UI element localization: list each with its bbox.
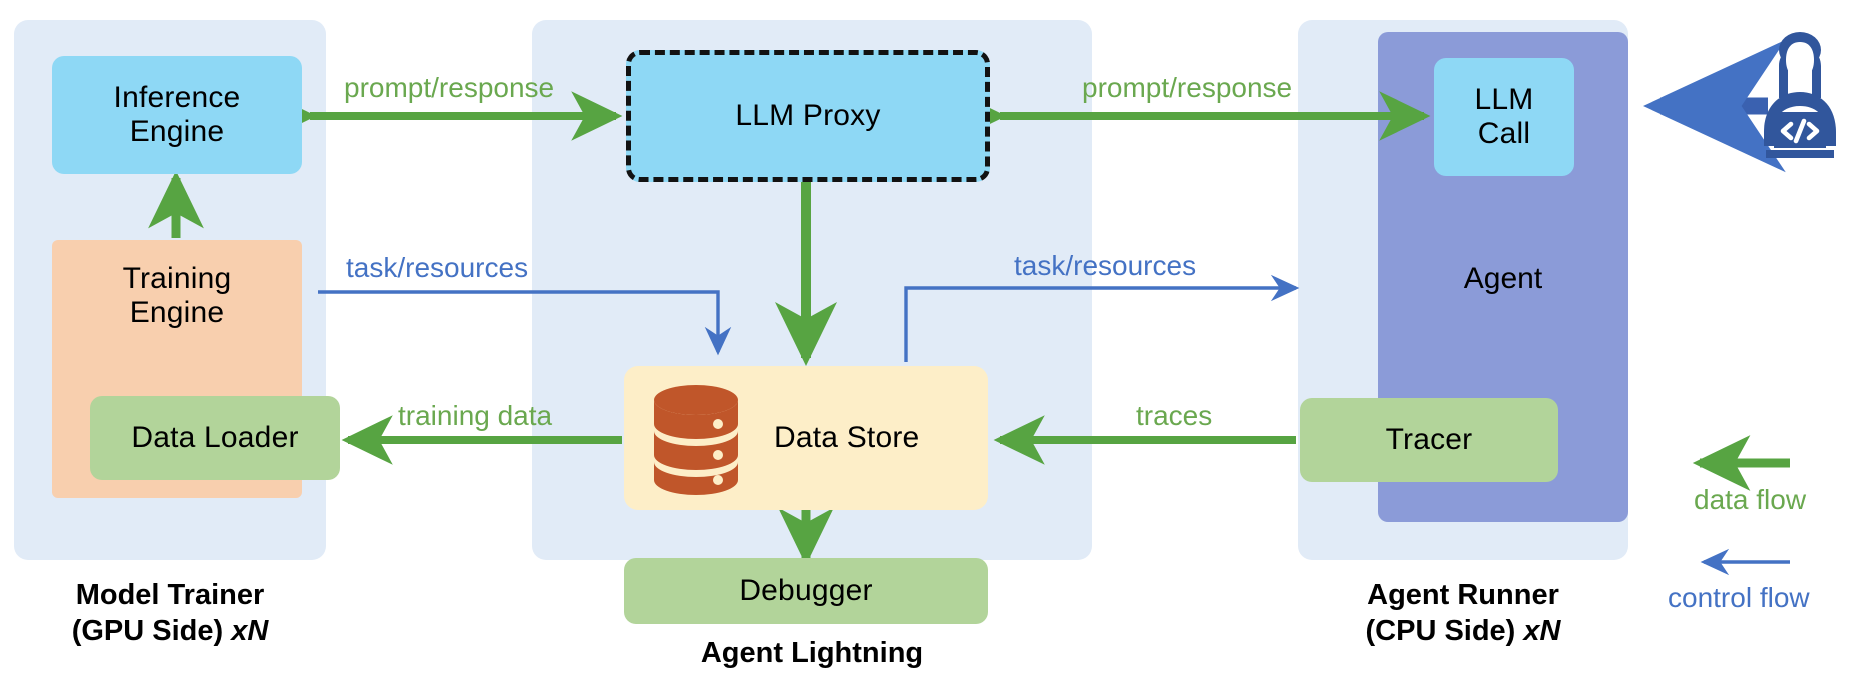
- training-engine-label-line2: Engine: [130, 296, 225, 330]
- caption-model-trainer-line2: (GPU Side): [72, 615, 223, 647]
- node-llm-proxy[interactable]: LLM Proxy: [626, 50, 990, 182]
- caption-agent-runner-line2: (CPU Side): [1366, 615, 1516, 647]
- developer-at-laptop-icon: [1748, 20, 1852, 170]
- node-data-loader[interactable]: Data Loader: [90, 396, 340, 480]
- database-icon: [646, 380, 746, 496]
- edge-label-traces: traces: [1132, 400, 1216, 432]
- training-engine-label-line1: Training: [123, 262, 232, 296]
- debugger-label: Debugger: [739, 574, 872, 608]
- llm-call-label-line2: Call: [1478, 117, 1530, 151]
- caption-agent-runner-line1: Agent Runner: [1298, 578, 1628, 614]
- caption-model-trainer-line1: Model Trainer: [14, 578, 326, 614]
- llm-call-label-line1: LLM: [1475, 83, 1534, 117]
- node-inference-engine[interactable]: Inference Engine: [52, 56, 302, 174]
- node-llm-call[interactable]: LLM Call: [1434, 58, 1574, 176]
- edge-label-task-resources-left: task/resources: [342, 252, 532, 284]
- legend-label-control-flow: control flow: [1668, 582, 1810, 614]
- edge-label-prompt-response-right: prompt/response: [1078, 72, 1296, 104]
- caption-agent-lightning-text: Agent Lightning: [701, 637, 923, 669]
- caption-model-trainer: Model Trainer (GPU Side) xN: [14, 578, 326, 650]
- inference-engine-label-line2: Engine: [130, 115, 225, 149]
- data-store-label: Data Store: [774, 421, 919, 455]
- caption-model-trainer-multiplier: xN: [231, 615, 268, 647]
- data-loader-label: Data Loader: [131, 421, 298, 455]
- edge-label-task-resources-right: task/resources: [1010, 250, 1200, 282]
- inference-engine-label-line1: Inference: [114, 81, 241, 115]
- caption-agent-lightning: Agent Lightning: [532, 636, 1092, 672]
- node-data-store[interactable]: Data Store: [624, 366, 988, 510]
- edge-label-prompt-response-left: prompt/response: [340, 72, 558, 104]
- tracer-label: Tracer: [1386, 423, 1473, 457]
- caption-agent-runner: Agent Runner (CPU Side) xN: [1298, 578, 1628, 650]
- diagram-canvas: Agent: [0, 0, 1852, 684]
- agent-label: Agent: [1378, 262, 1628, 296]
- llm-proxy-label: LLM Proxy: [735, 99, 880, 133]
- legend-label-data-flow: data flow: [1694, 484, 1806, 516]
- edge-label-training-data: training data: [394, 400, 556, 432]
- caption-agent-runner-multiplier: xN: [1523, 615, 1560, 647]
- node-tracer[interactable]: Tracer: [1300, 398, 1558, 482]
- node-debugger[interactable]: Debugger: [624, 558, 988, 624]
